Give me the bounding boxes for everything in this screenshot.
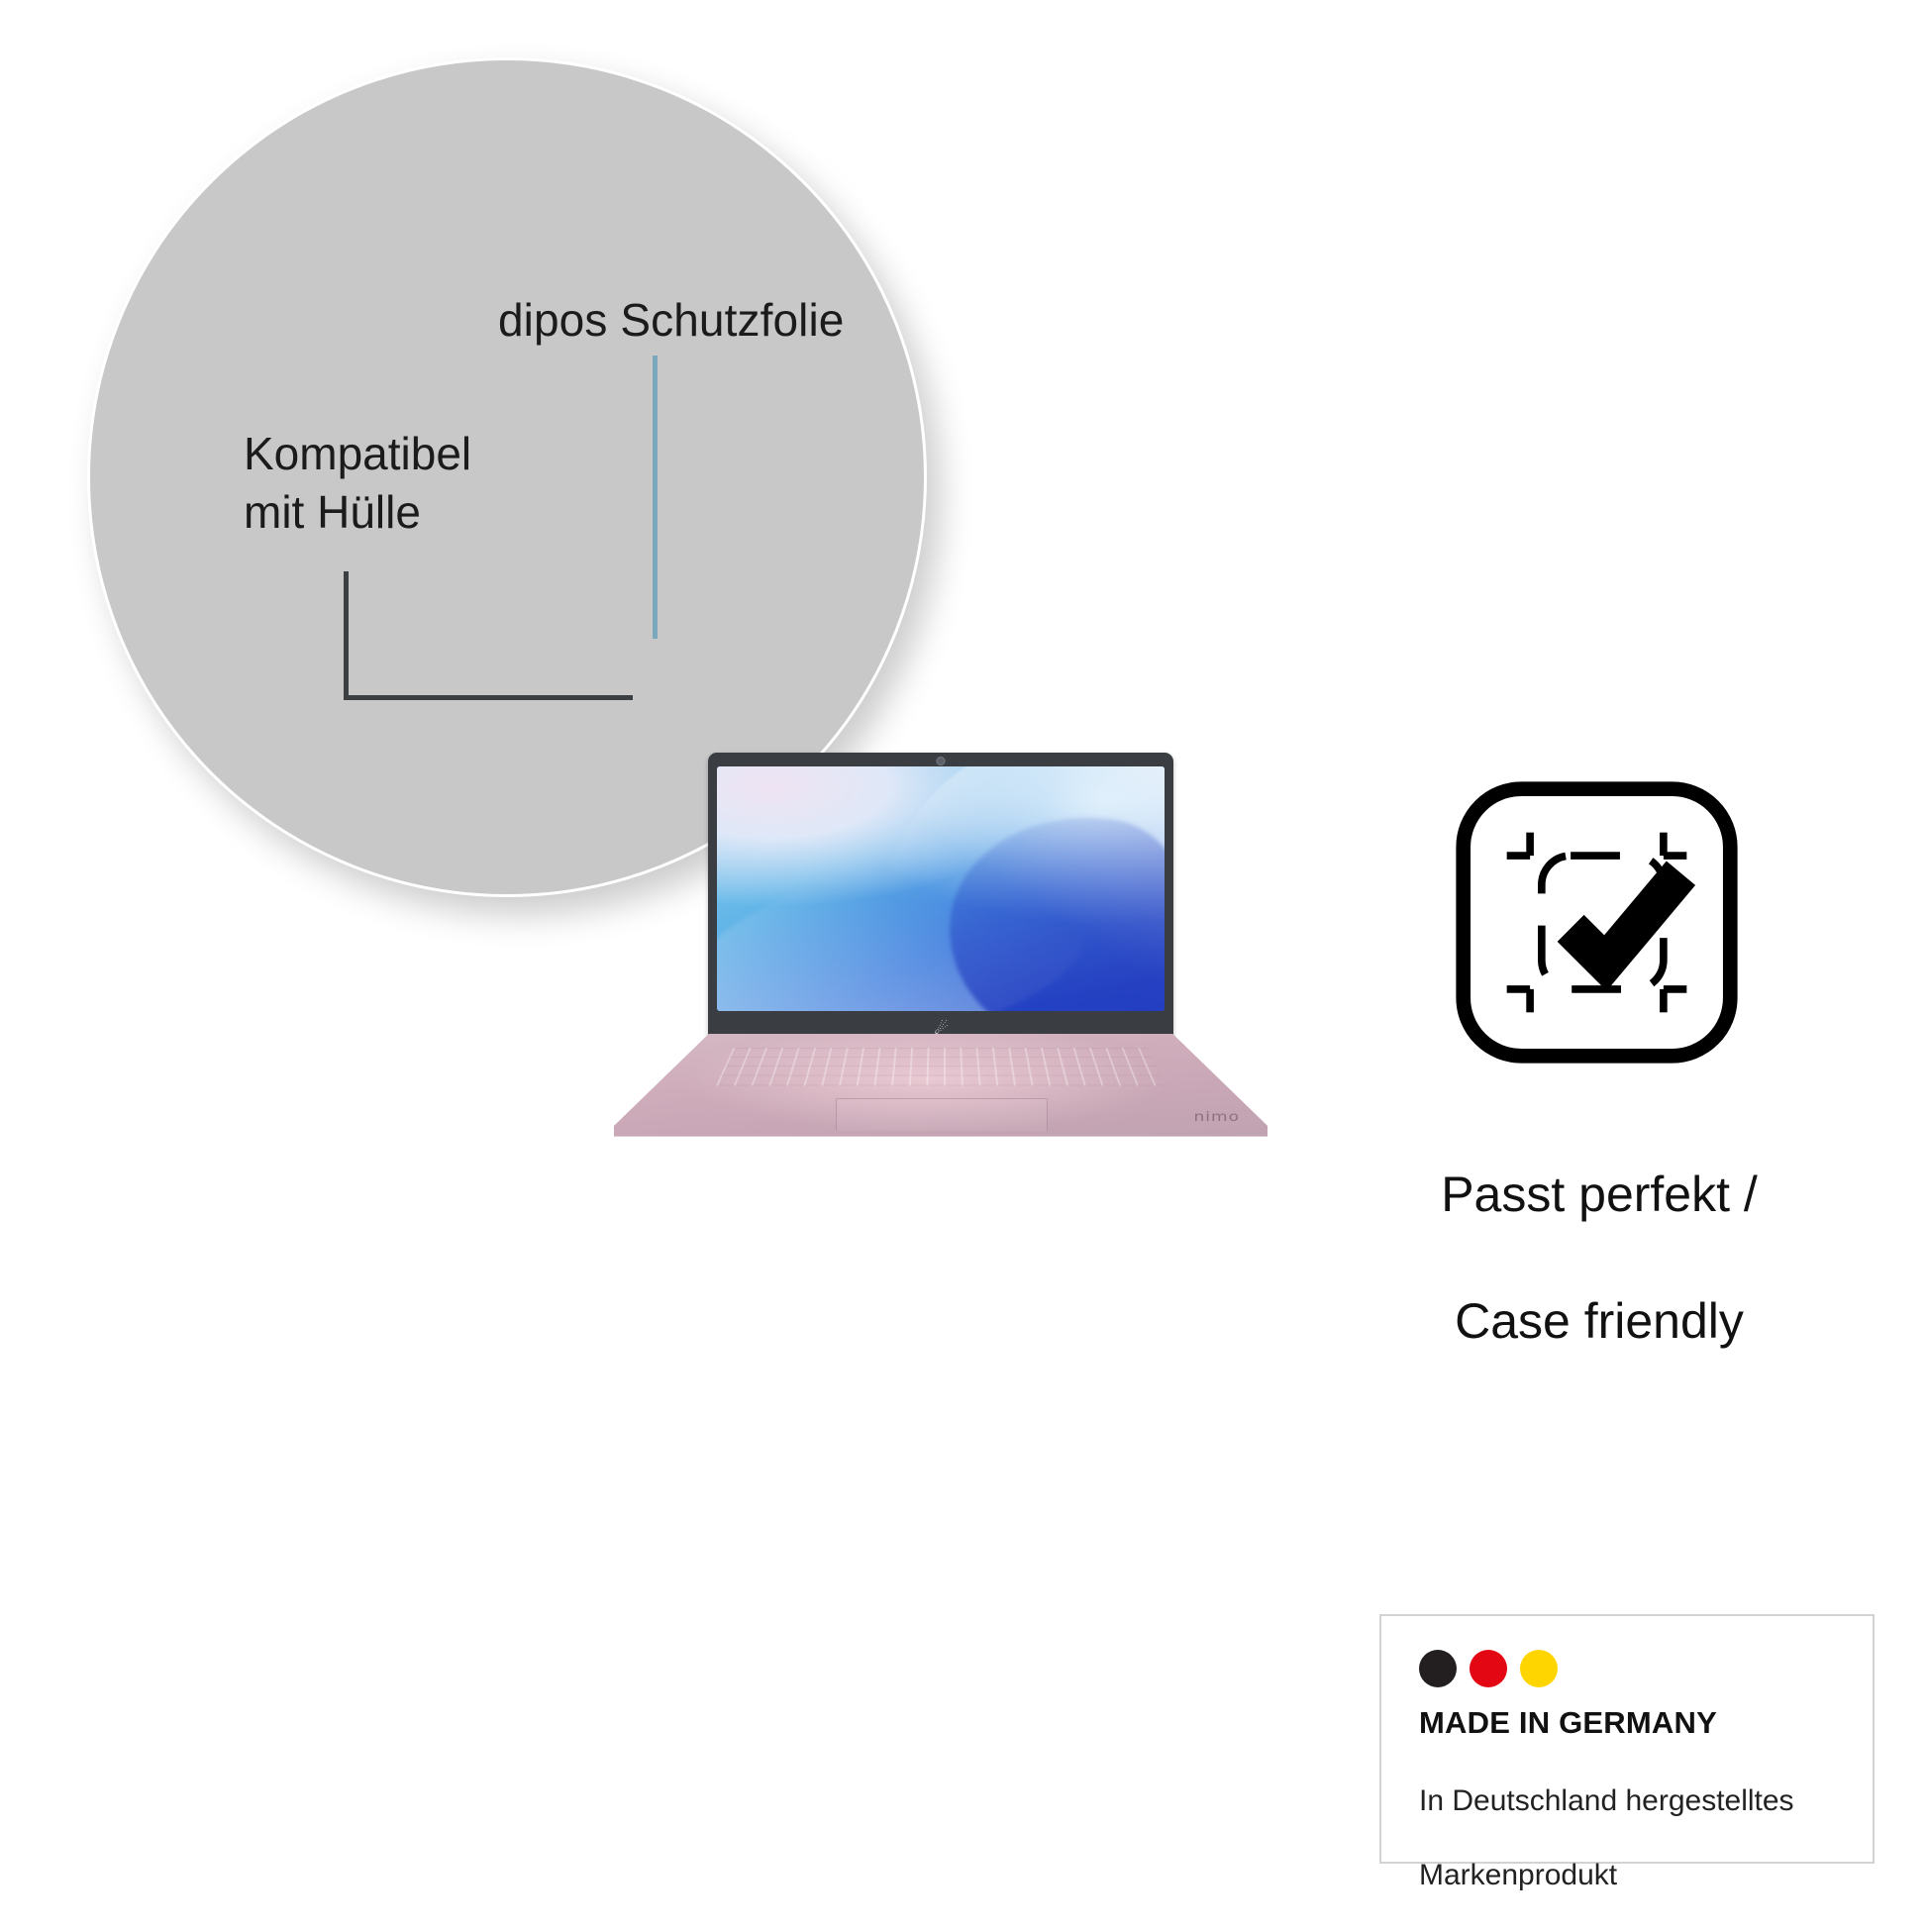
laptop-front-edge (621, 1137, 1262, 1147)
product-infographic: dipos Schutzfolie Kompatibel mit Hülle ☄… (0, 0, 1927, 1927)
case-friendly-caption: Passt perfekt / Case friendly (1287, 1099, 1911, 1416)
laptop-product-image: ☄ nimo (614, 753, 1268, 1169)
made-in-germany-subtitle-line2: Markenprodukt (1419, 1857, 1873, 1894)
laptop-screen (717, 766, 1165, 1011)
made-in-germany-subtitle: In Deutschland hergestelltes Markenprodu… (1419, 1745, 1873, 1932)
magnifier-subtitle: Kompatibel mit Hülle (244, 425, 471, 542)
laptop-base: nimo (614, 1034, 1268, 1141)
laptop-lid: ☄ (708, 753, 1173, 1040)
screen-protector-leader-line (653, 356, 658, 639)
made-in-germany-badge: MADE IN GERMANY In Deutschland hergestel… (1379, 1614, 1875, 1864)
case-bracket-horizontal (344, 695, 633, 700)
case-bracket-vertical (344, 571, 349, 700)
case-friendly-check-icon (1452, 777, 1742, 1068)
flag-dot-black (1419, 1650, 1457, 1687)
laptop-trackpad (836, 1098, 1047, 1131)
magnifier-subtitle-line1: Kompatibel (244, 425, 471, 483)
made-in-germany-title: MADE IN GERMANY (1419, 1705, 1873, 1741)
webcam-icon (937, 757, 946, 765)
flag-dot-gold (1520, 1650, 1558, 1687)
laptop-brand-label: nimo (1194, 1109, 1240, 1125)
magnifier-subtitle-line2: mit Hülle (244, 483, 471, 542)
made-in-germany-subtitle-line1: In Deutschland hergestelltes (1419, 1782, 1873, 1820)
flag-dot-red (1470, 1650, 1507, 1687)
case-friendly-caption-line2: Case friendly (1287, 1289, 1911, 1353)
laptop-keyboard (716, 1048, 1166, 1086)
magnifier-title: dipos Schutzfolie (498, 293, 844, 347)
case-friendly-caption-line1: Passt perfekt / (1287, 1163, 1911, 1226)
german-flag-dots (1419, 1650, 1873, 1687)
